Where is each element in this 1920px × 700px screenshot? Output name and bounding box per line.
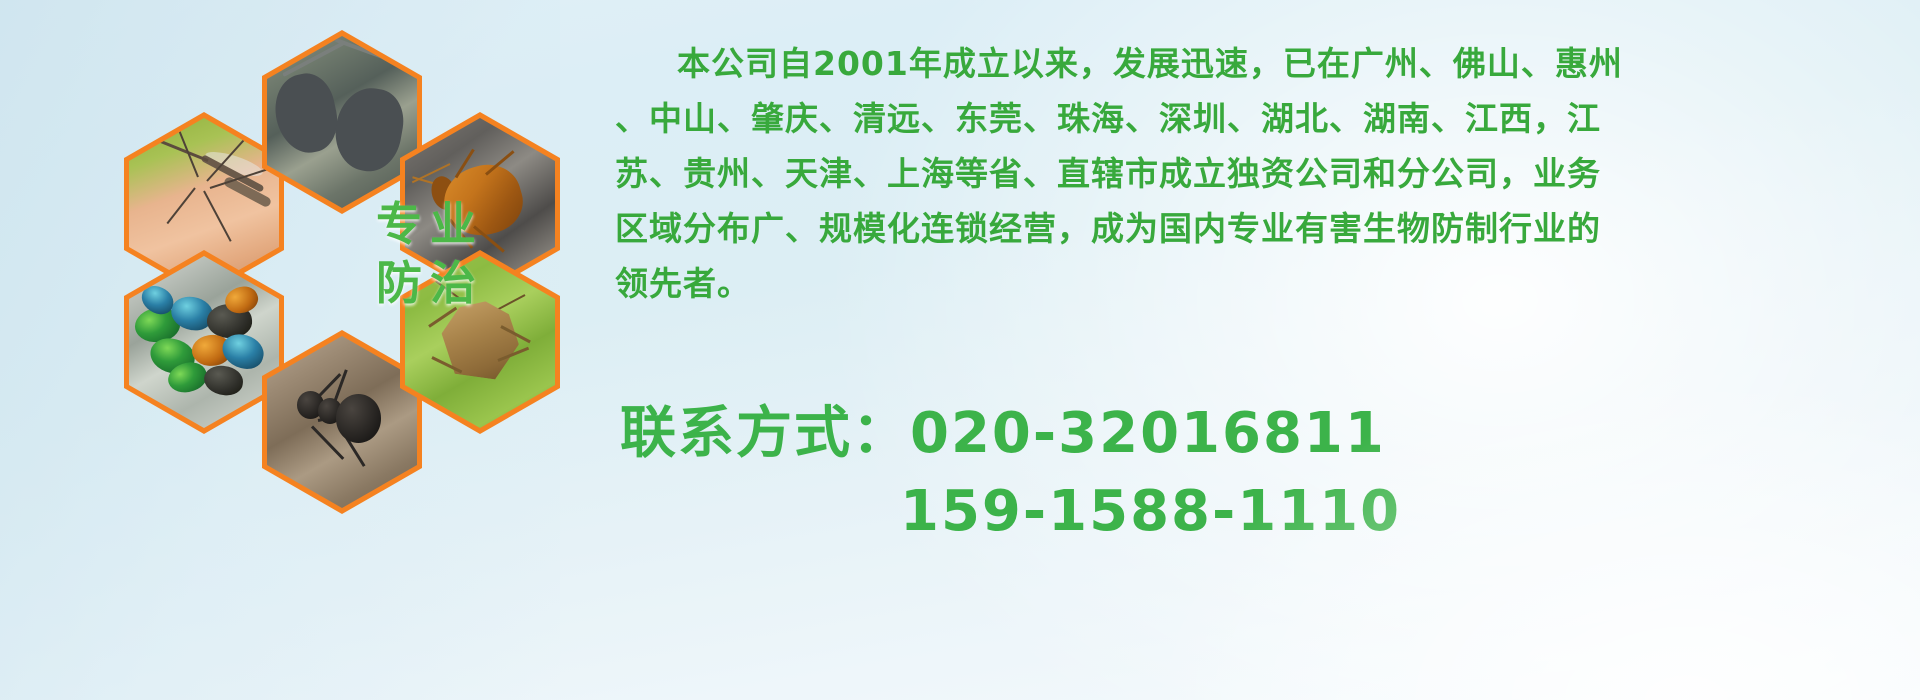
description-line-1: 本公司自2001年成立以来，发展迅速，已在广州、佛山、惠州	[615, 36, 1905, 91]
description-line-4: 区域分布广、规模化连锁经营，成为国内专业有害生物防制行业的	[615, 201, 1905, 256]
hex-badge-line-1: 专业	[340, 195, 520, 254]
pest-control-banner: 专业 防治 本公司自2001年成立以来，发展迅速，已在广州、佛山、惠州 、中山、…	[0, 0, 1920, 700]
hex-cell-flies[interactable]	[124, 250, 284, 434]
contact-secondary-line: 159-1588-1110	[620, 473, 1820, 551]
hex-cell-ant[interactable]	[262, 330, 422, 514]
contact-block: 联系方式：020-32016811 159-1588-1110	[620, 395, 1820, 551]
description-line-3: 苏、贵州、天津、上海等省、直辖市成立独资公司和分公司，业务	[615, 146, 1905, 201]
company-description: 本公司自2001年成立以来，发展迅速，已在广州、佛山、惠州 、中山、肇庆、清远、…	[615, 36, 1905, 311]
hex-badge-line-2: 防治	[340, 254, 520, 313]
description-line-5: 领先者。	[615, 256, 1905, 311]
contact-primary-line: 联系方式：020-32016811	[620, 395, 1820, 473]
hex-cell-rats[interactable]	[262, 30, 422, 214]
contact-phone-primary[interactable]: 020-32016811	[910, 401, 1386, 466]
contact-phone-secondary[interactable]: 159-1588-1110	[900, 479, 1401, 544]
hex-badge-text: 专业 防治	[340, 195, 520, 313]
description-line-2: 、中山、肇庆、清远、东莞、珠海、深圳、湖北、湖南、江西，江	[615, 91, 1905, 146]
hexagon-photo-cluster: 专业 防治	[90, 0, 590, 560]
contact-label: 联系方式：	[620, 401, 910, 466]
